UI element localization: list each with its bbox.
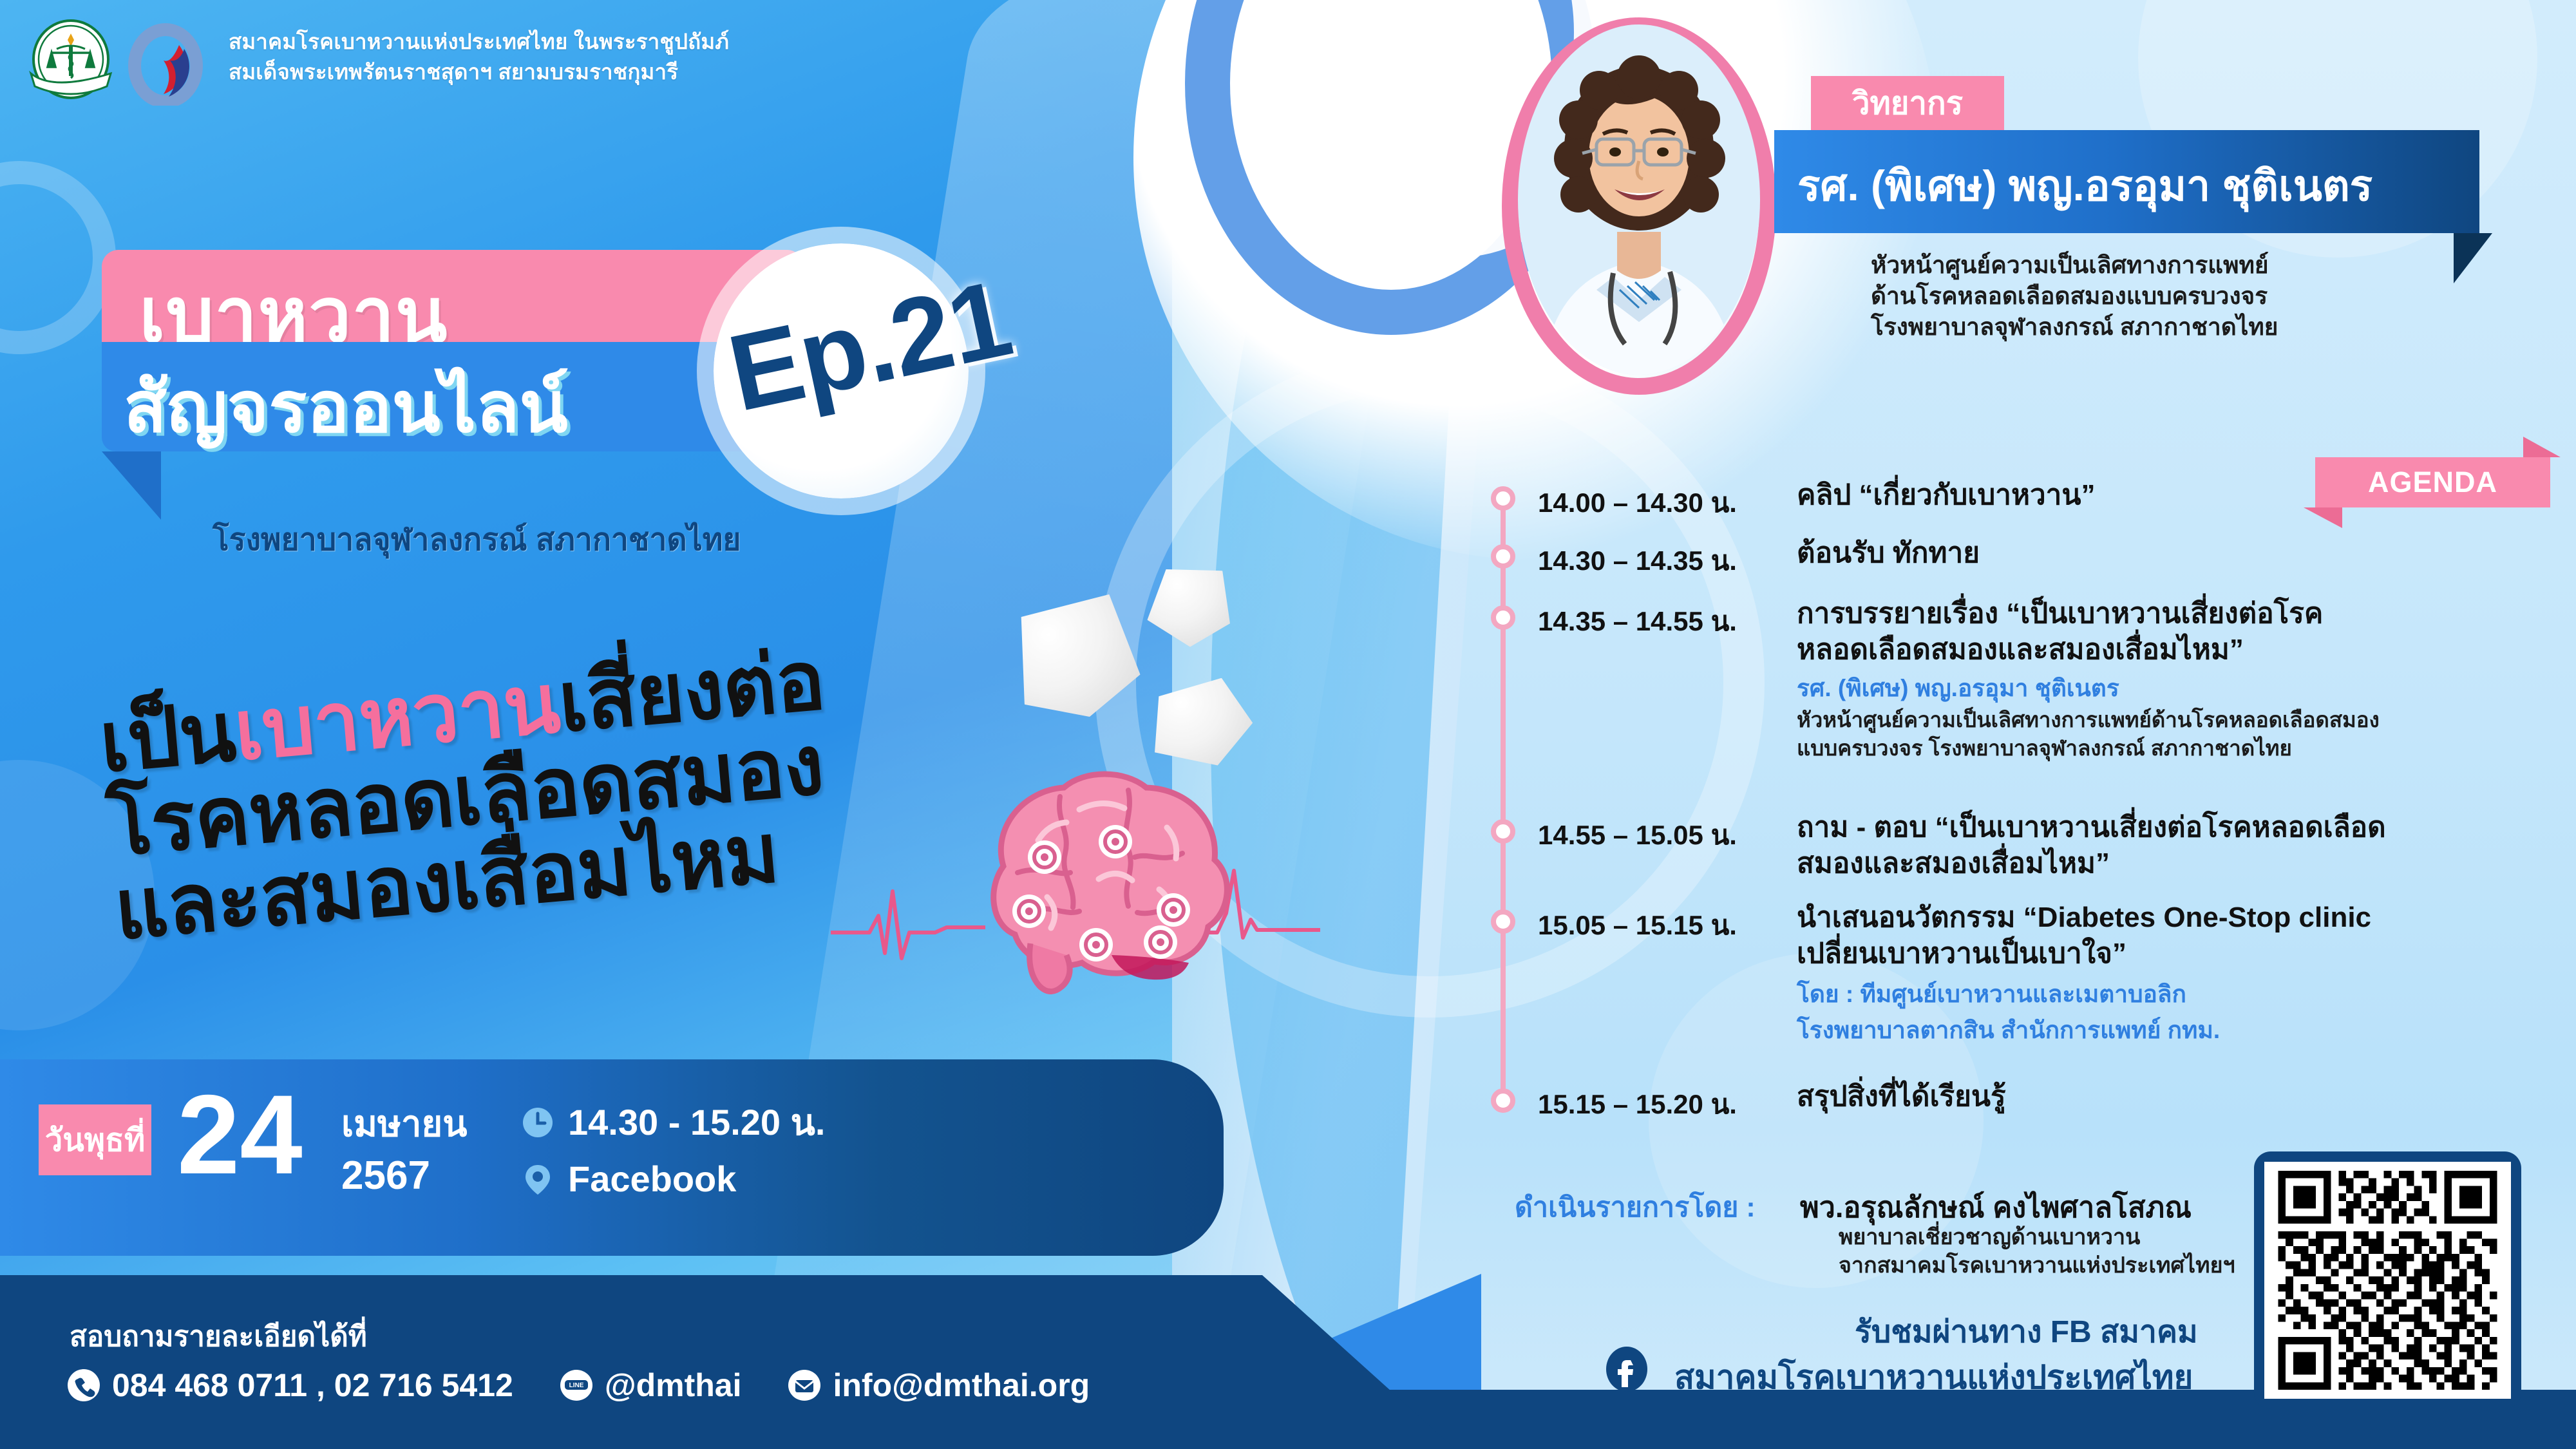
association-name: สมาคมโรคเบาหวานแห่งประเทศไทย ในพระราชูปถ… xyxy=(229,27,729,88)
event-channel-row: Facebook xyxy=(522,1158,736,1200)
contact-heading: สอบถามรายละเอียดได้ที่ xyxy=(70,1314,367,1359)
agenda-time: 14.30 – 14.35 น. xyxy=(1538,540,1737,582)
line-icon: LINE xyxy=(560,1368,593,1402)
speaker-badge: วิทยากร xyxy=(1811,76,2004,130)
agenda-time: 14.35 – 14.55 น. xyxy=(1538,600,1737,643)
hospital-name: โรงพยาบาลจุฬาลงกรณ์ สภากาชาดไทย xyxy=(213,515,741,564)
agenda-time: 14.00 – 14.30 น. xyxy=(1538,482,1737,524)
agenda-ribbon-label: AGENDA xyxy=(2315,457,2550,507)
moderator-details: พยาบาลเชี่ยวชาญด้านเบาหวาน จากสมาคมโรคเบ… xyxy=(1839,1224,2235,1280)
email-contact[interactable]: info@dmthai.org xyxy=(788,1367,1090,1404)
speaker-affiliation-2: ด้านโรคหลอดเลือดสมองแบบครบวงจร xyxy=(1871,281,2278,312)
agenda-desc: การบรรยายเรื่อง “เป็นเบาหวานเสี่ยงต่อโรค xyxy=(1797,596,2323,631)
timeline-dot xyxy=(1491,819,1515,844)
agenda-desc: ต้อนรับ ทักทาย xyxy=(1797,536,1980,571)
speaker-name-banner: รศ. (พิเศษ) พญ.อรอุมา ชุติเนตร xyxy=(1774,130,2479,233)
speaker-affiliation-3: โรงพยาบาลจุฬาลงกรณ์ สภากาชาดไทย xyxy=(1871,312,2278,343)
qr-code-inner xyxy=(2264,1162,2511,1399)
agenda-desc: ถาม - ตอบ “เป็นเบาหวานเสี่ยงต่อโรคหลอดเล… xyxy=(1797,810,2386,845)
agenda-desc: เปลี่ยนเบาหวานเป็นเบาใจ” xyxy=(1797,936,2126,971)
timeline-dot xyxy=(1491,909,1515,934)
facebook-icon[interactable] xyxy=(1604,1346,1650,1392)
agenda-desc: สมองและสมองเสื่อมไหม” xyxy=(1797,846,2110,881)
watch-line-2: สมาคมโรคเบาหวานแห่งประเทศไทย xyxy=(1674,1351,2193,1403)
phone-contact[interactable]: 084 468 0711 , 02 716 5412 xyxy=(67,1367,513,1404)
date-year: 2567 xyxy=(341,1153,430,1198)
speaker-badge-label: วิทยากร xyxy=(1852,78,1963,128)
line-contact[interactable]: LINE @dmthai xyxy=(560,1367,742,1404)
moderator-label: ดำเนินรายการโดย : xyxy=(1515,1185,1756,1229)
phone-number: 084 468 0711 , 02 716 5412 xyxy=(112,1367,513,1404)
qr-code[interactable] xyxy=(2254,1151,2521,1409)
event-time: 14.30 - 15.20 น. xyxy=(568,1094,825,1151)
agenda-time: 15.15 – 15.20 น. xyxy=(1538,1083,1737,1126)
moderator-sub-2: จากสมาคมโรคเบาหวานแห่งประเทศไทยฯ xyxy=(1839,1252,2235,1280)
title-banner-blue: สัญจรออนไลน์ xyxy=(102,342,804,451)
agenda-desc: คลิป “เกี่ยวกับเบาหวาน” xyxy=(1797,478,2095,513)
email-address: info@dmthai.org xyxy=(833,1367,1090,1404)
title-banner-pink: เบาหวาน xyxy=(102,250,804,342)
timeline-dot xyxy=(1491,605,1515,630)
event-channel: Facebook xyxy=(568,1158,736,1200)
agenda-desc: นำเสนอนวัตกรรม “Diabetes One-Stop clinic xyxy=(1797,900,2371,935)
association-line-2: สมเด็จพระเทพรัตนราชสุดาฯ สยามบรมราชกุมาร… xyxy=(229,57,729,88)
phone-icon xyxy=(67,1368,100,1402)
poster-root: 1965 สมาคมโรคเบาหวานแห่งประเทศไทย ในพระร… xyxy=(0,0,2576,1449)
agenda-by-line: โรงพยาบาลตากสิน สำนักการแพทย์ กทม. xyxy=(1797,1015,2220,1046)
moderator-sub-1: พยาบาลเชี่ยวชาญด้านเบาหวาน xyxy=(1839,1224,2235,1252)
association-line-1: สมาคมโรคเบาหวานแห่งประเทศไทย ในพระราชูปถ… xyxy=(229,27,729,57)
timeline-dot xyxy=(1491,1088,1515,1113)
title-line-2: สัญจรออนไลน์ xyxy=(124,351,568,463)
agenda-desc: หลอดเลือดสมองและสมองเสื่อมไหม” xyxy=(1797,632,2244,667)
speaker-portrait xyxy=(1517,19,1761,380)
agenda-ribbon: AGENDA xyxy=(2315,457,2550,507)
envelope-icon xyxy=(788,1368,821,1402)
speaker-affiliation-1: หัวหน้าศูนย์ความเป็นเลิศทางการแพทย์ xyxy=(1871,250,2278,281)
event-time-row: 14.30 - 15.20 น. xyxy=(522,1094,825,1151)
svg-text:LINE: LINE xyxy=(569,1382,583,1389)
weekday-chip: วันพุธที่ xyxy=(39,1104,151,1175)
agenda-sub-line: แบบครบวงจร โรงพยาบาลจุฬาลงกรณ์ สภากาชาดไ… xyxy=(1797,735,2292,762)
agenda-sub-speaker-name: รศ. (พิเศษ) พญ.อรอุมา ชุติเนตร xyxy=(1797,674,2119,703)
qr-code-matrix xyxy=(2273,1171,2502,1390)
clock-icon xyxy=(522,1106,554,1139)
brain-illustration xyxy=(927,750,1256,1001)
agenda-sub-line: หัวหน้าศูนย์ความเป็นเลิศทางการแพทย์ด้านโ… xyxy=(1797,707,2380,734)
diabetes-association-of-thailand-logo: 1965 xyxy=(26,19,116,106)
agenda-time: 14.55 – 15.05 น. xyxy=(1538,814,1737,857)
speaker-name: รศ. (พิเศษ) พญ.อรอุมา ชุติเนตร xyxy=(1797,152,2372,220)
contact-row: 084 468 0711 , 02 716 5412 LINE @dmthai … xyxy=(67,1367,1090,1404)
date-day-number: 24 xyxy=(177,1079,303,1191)
watch-line-1: รับชมผ่านทาง FB สมาคม xyxy=(1855,1307,2198,1356)
weekday-label: วันพุธที่ xyxy=(45,1115,146,1165)
agenda-time: 15.05 – 15.15 น. xyxy=(1538,904,1737,947)
agenda-desc: สรุปสิ่งที่ได้เรียนรู้ xyxy=(1797,1079,2006,1114)
timeline-dot xyxy=(1491,544,1515,569)
agenda-timeline-rail xyxy=(1501,496,1506,1101)
location-pin-icon xyxy=(522,1163,554,1195)
line-id: @dmthai xyxy=(605,1367,742,1404)
date-month: เมษายน xyxy=(341,1095,468,1152)
agenda-by-line: โดย : ทีมศูนย์เบาหวานและเมตาบอลิก xyxy=(1797,979,2186,1010)
speaker-affiliation: หัวหน้าศูนย์ความเป็นเลิศทางการแพทย์ ด้าน… xyxy=(1871,250,2278,343)
bottom-contact-bar xyxy=(0,1275,1455,1449)
diabetes-network-thailand-logo xyxy=(124,21,207,106)
timeline-dot xyxy=(1491,486,1515,511)
